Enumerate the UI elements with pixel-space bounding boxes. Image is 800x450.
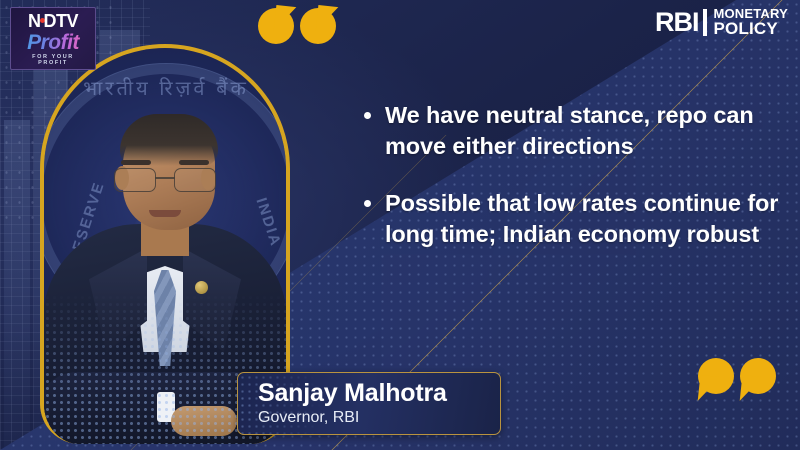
bullet-text: We have neutral stance, repo can move ei… xyxy=(385,100,780,162)
quotation-mark-close-icon xyxy=(698,358,778,412)
quote-bullet-list: We have neutral stance, repo can move ei… xyxy=(360,100,780,276)
quote-glyph-3 xyxy=(698,358,736,412)
eyeglasses-icon xyxy=(112,168,218,190)
news-graphic-card: भारतीय रिज़र्व बैंक RESERVE INDIA OF xyxy=(0,0,800,450)
ndtv-wordmark-n: N xyxy=(28,11,41,31)
bullet-text: Possible that low rates continue for lon… xyxy=(385,188,780,250)
ndtv-tagline: FOR YOUR PROFIT xyxy=(16,55,90,66)
quote-glyph-4 xyxy=(740,358,778,412)
lens-left xyxy=(114,168,156,192)
monetary-policy-label: MONETARY POLICY xyxy=(713,8,788,37)
speaker-name: Sanjay Malhotra xyxy=(258,380,500,407)
list-item: Possible that low rates continue for lon… xyxy=(360,188,780,250)
lens-right xyxy=(174,168,216,192)
ndtv-profit-logo[interactable]: NDTV Profit FOR YOUR PROFIT xyxy=(10,7,96,70)
lapel-pin xyxy=(195,281,208,294)
bullet-dot-icon xyxy=(364,200,371,207)
mouth xyxy=(149,210,181,217)
quotation-mark-open-icon xyxy=(258,8,338,62)
nameplate: Sanjay Malhotra Governor, RBI xyxy=(237,372,501,435)
speaker-title: Governor, RBI xyxy=(258,408,500,429)
quote-glyph-2 xyxy=(300,8,338,62)
lens-bridge xyxy=(155,177,175,179)
eyebrow-left xyxy=(121,160,151,165)
rbi-monetary-policy-logo: RBI MONETARY POLICY xyxy=(655,8,788,37)
list-item: We have neutral stance, repo can move ei… xyxy=(360,100,780,162)
quote-glyph-1 xyxy=(258,8,296,62)
rbi-wordmark: RBI xyxy=(655,9,708,36)
bullet-dot-icon xyxy=(364,112,371,119)
hair xyxy=(120,114,218,166)
ndtv-wordmark-dtv: DTV xyxy=(44,11,79,31)
ndtv-wordmark: NDTV xyxy=(28,12,78,30)
eyebrow-right xyxy=(179,160,209,165)
policy-label: POLICY xyxy=(713,21,788,38)
profit-wordmark: Profit xyxy=(16,32,90,53)
